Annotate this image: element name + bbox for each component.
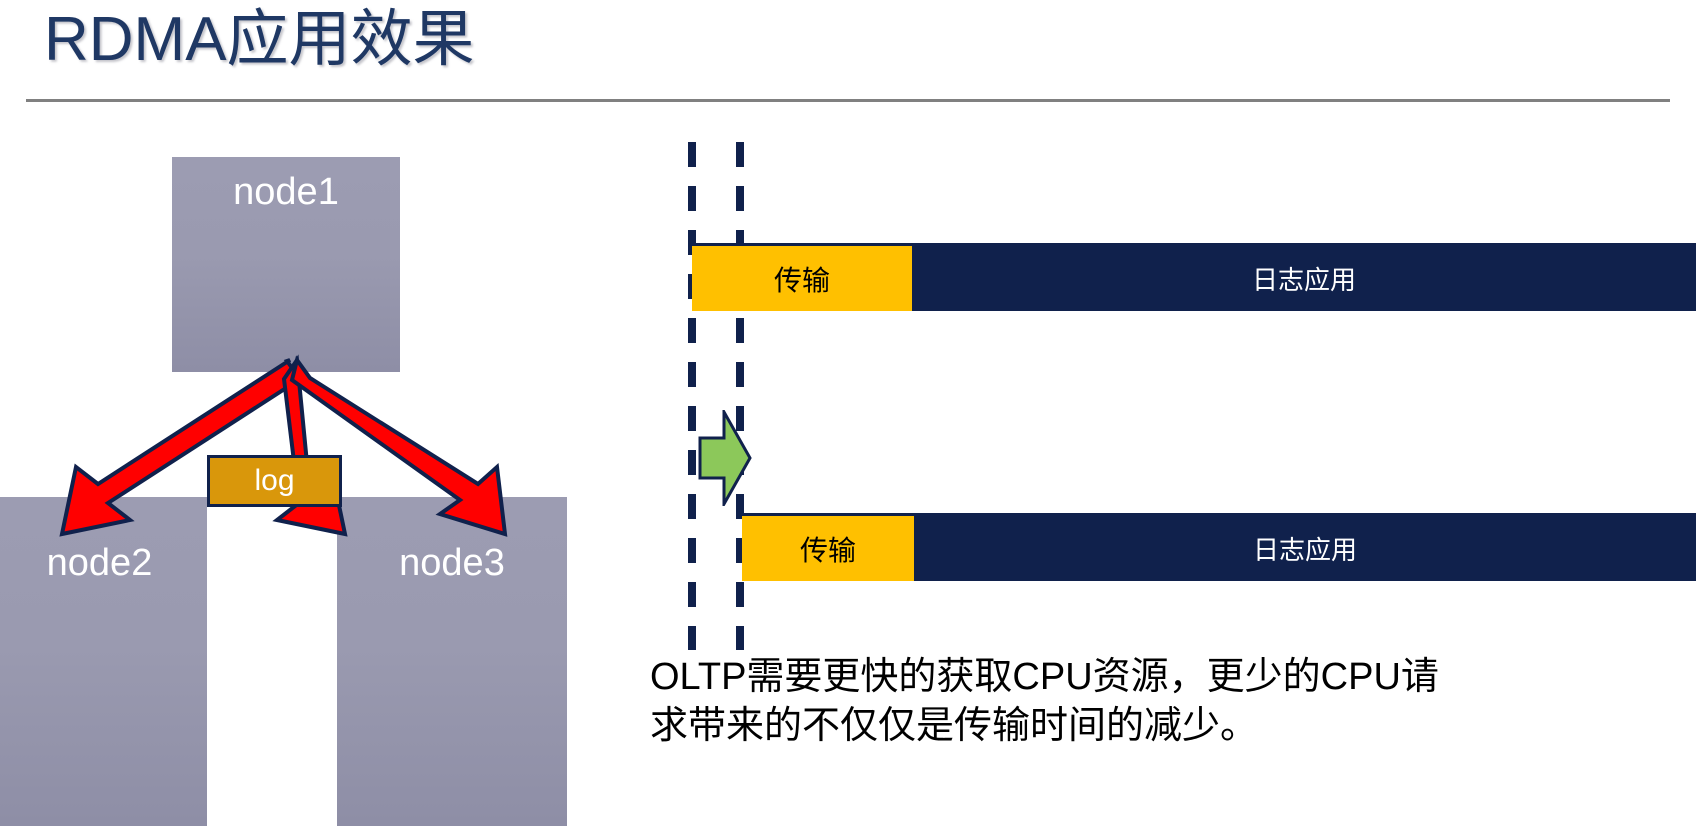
rdma-application-segment: 日志应用	[914, 516, 1696, 581]
tcpip-application-segment: 日志应用	[912, 246, 1696, 311]
cluster-diagram: node1 node2 node3 log	[0, 110, 600, 826]
caption-line-2: 求带来的不仅仅是传输时间的减少。	[650, 702, 1690, 751]
tcpip-transport-segment: 传输	[692, 246, 912, 311]
log-box: log	[207, 455, 342, 507]
timeline-bar-rdma: 传输 日志应用	[742, 513, 1696, 581]
improvement-arrow-icon	[696, 410, 752, 506]
title-divider	[26, 99, 1670, 102]
guide-line-start	[688, 142, 696, 650]
rdma-transport-segment: 传输	[742, 516, 914, 581]
caption-line-1: OLTP需要更快的获取CPU资源，更少的CPU请	[650, 653, 1690, 702]
timeline-bar-tcpip: 传输 日志应用	[692, 243, 1696, 311]
protocol-comparison-panel: TCP/IP 传输 日志应用 RDMA 传输 日志应用 OLTP需要更快的获取C…	[600, 110, 1696, 826]
caption-text: OLTP需要更快的获取CPU资源，更少的CPU请 求带来的不仅仅是传输时间的减少…	[650, 653, 1690, 750]
page-title: RDMA应用效果	[44, 2, 475, 78]
log-label: log	[254, 464, 294, 497]
arrow-left-icon	[62, 360, 300, 534]
